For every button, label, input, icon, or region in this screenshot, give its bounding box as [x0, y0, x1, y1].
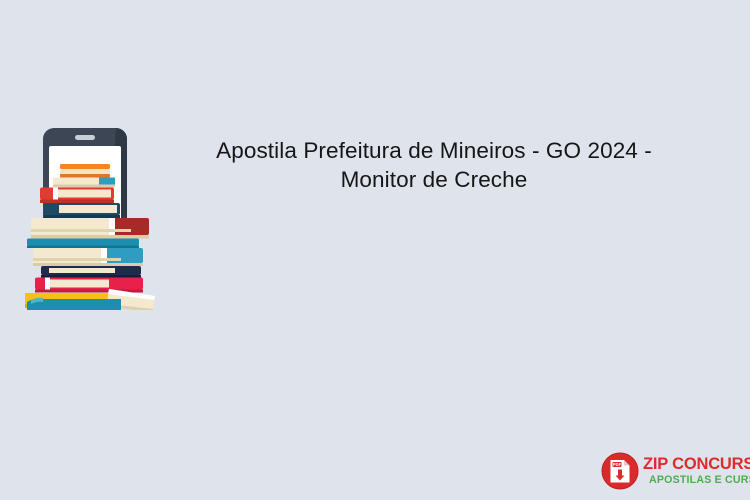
page-title: Apostila Prefeitura de Mineiros - GO 202… [186, 136, 682, 194]
stack-of-books-illustration [13, 126, 165, 310]
book-red [40, 188, 114, 204]
logo-title: ZIP CONCURSOS [643, 456, 750, 473]
book-teal-lower [27, 298, 121, 310]
book-cream-blue [33, 248, 143, 266]
pdf-download-badge-icon: PDF [601, 452, 639, 490]
svg-text:PDF: PDF [613, 462, 622, 467]
book-dark-navy [41, 266, 141, 278]
book-crimson [35, 278, 143, 293]
book-top-cream-teal [53, 178, 115, 188]
logo-subtitle: APOSTILAS E CURSOS [643, 475, 750, 486]
book-cream-darkred [31, 218, 149, 239]
book-top-orange [60, 164, 110, 178]
book-navy [44, 203, 120, 218]
banner-title-wrapper: Apostila Prefeitura de Mineiros - GO 202… [186, 136, 682, 194]
logo-wordmark: ZIP CONCURSOS APOSTILAS E CURSOS [643, 456, 750, 486]
product-banner: Apostila Prefeitura de Mineiros - GO 202… [0, 0, 750, 500]
book-teal-thin [27, 239, 139, 249]
zip-concursos-logo[interactable]: PDF ZIP CONCURSOS APOSTILAS E CURSOS [601, 451, 743, 491]
